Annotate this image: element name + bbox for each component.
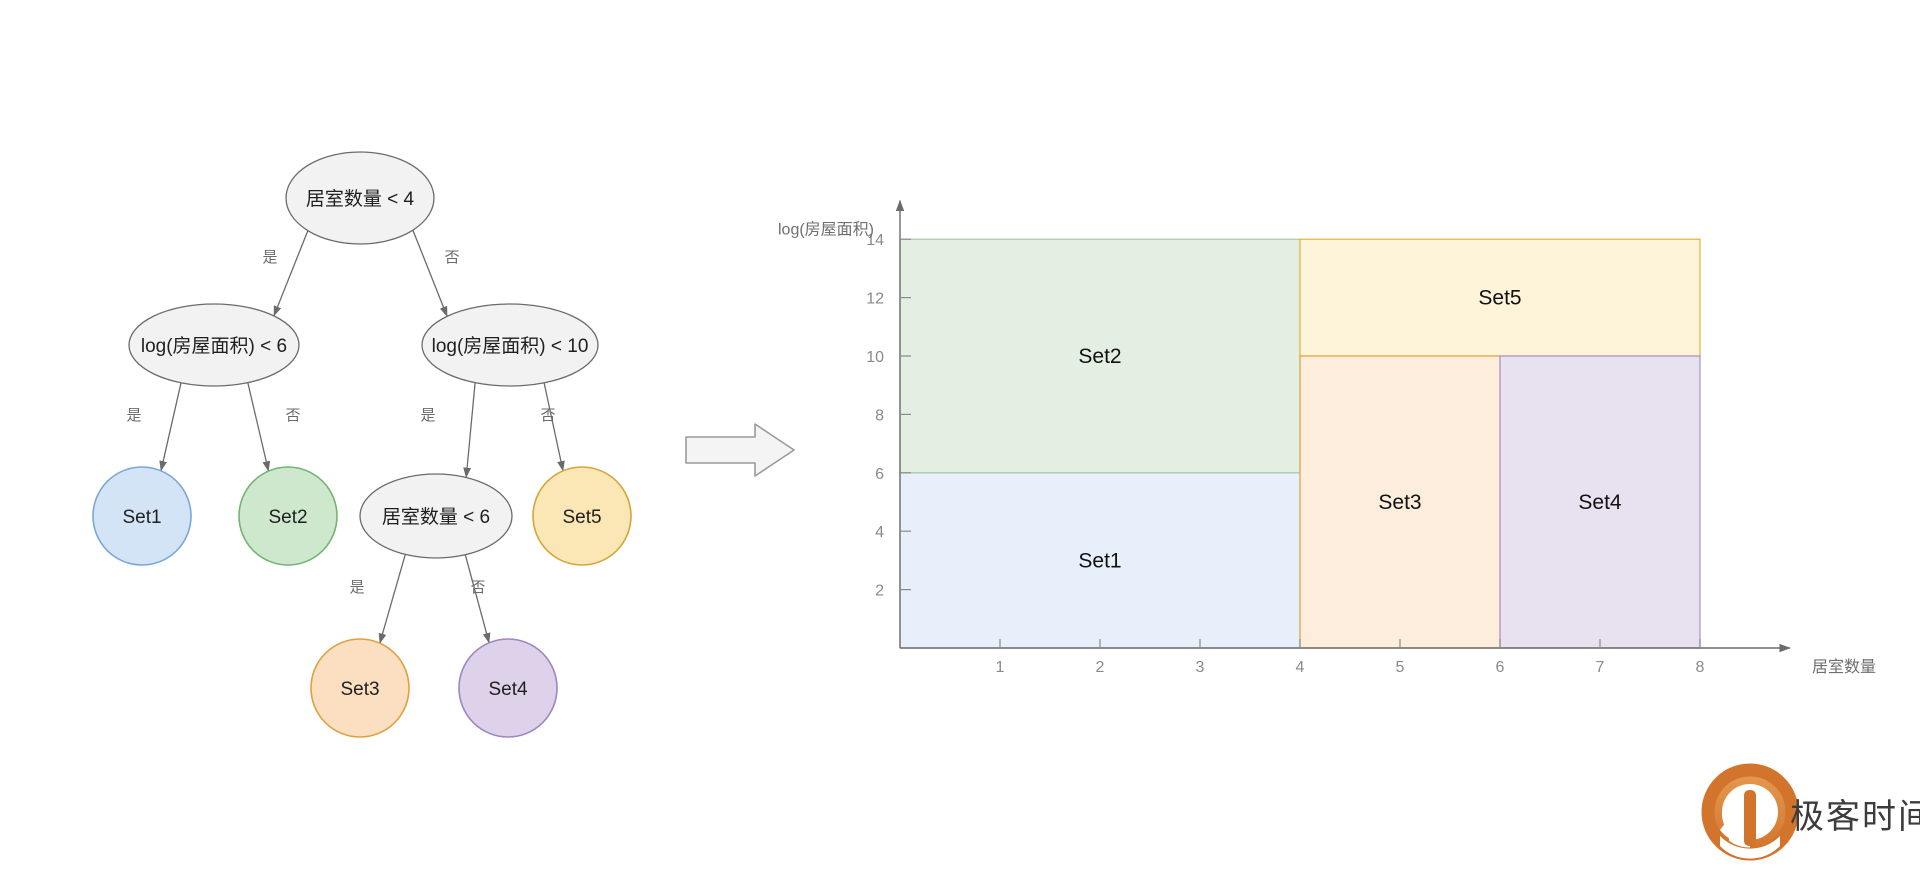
- tree-node-label: Set3: [340, 679, 379, 700]
- x-axis-tick-label: 4: [1296, 659, 1305, 676]
- tree-edge-label: 是: [262, 249, 277, 266]
- x-axis-tick-label: 7: [1596, 659, 1605, 676]
- chart-region-label: Set1: [1078, 549, 1121, 572]
- x-axis-tick-label: 3: [1196, 659, 1205, 676]
- chart-regions: Set1Set2Set5Set3Set4: [900, 239, 1700, 648]
- figure-canvas: 是否是否是否是否 居室数量 < 4log(房屋面积) < 6log(房屋面积) …: [0, 0, 1920, 884]
- chart-region-label: Set4: [1578, 491, 1622, 514]
- tree-edges: 是否是否是否是否: [126, 230, 563, 643]
- tree-nodes: 居室数量 < 4log(房屋面积) < 6log(房屋面积) < 10Set1S…: [93, 152, 631, 737]
- tree-node-label: Set2: [268, 507, 307, 528]
- y-axis-tick-label: 4: [875, 524, 884, 541]
- tree-edge: [161, 383, 181, 471]
- tree-node-n_l2[interactable]: 居室数量 < 6: [360, 474, 512, 558]
- figure-svg: 是否是否是否是否 居室数量 < 4log(房屋面积) < 6log(房屋面积) …: [0, 0, 1920, 884]
- tree-edge: [413, 230, 447, 316]
- tree-edge-label: 是: [126, 407, 141, 424]
- tree-node-label: Set5: [562, 507, 601, 528]
- chart-region-label: Set2: [1078, 345, 1121, 368]
- tree-edge: [380, 554, 406, 643]
- logo-text: 极客时间: [1790, 798, 1920, 836]
- chart-region-label: Set5: [1478, 287, 1521, 310]
- tree-node-set4[interactable]: Set4: [459, 639, 557, 737]
- tree-node-label: 居室数量 < 4: [306, 188, 415, 210]
- x-axis-tick-label: 2: [1096, 659, 1105, 676]
- x-axis-tick-label: 6: [1496, 659, 1505, 676]
- tree-node-set1[interactable]: Set1: [93, 467, 191, 565]
- tree-edge-label: 是: [349, 579, 364, 596]
- tree-node-n_r[interactable]: log(房屋面积) < 10: [422, 304, 598, 386]
- brand-logo: 极客时间: [1708, 770, 1920, 859]
- tree-node-label: 居室数量 < 6: [382, 506, 490, 528]
- tree-node-set5[interactable]: Set5: [533, 467, 631, 565]
- y-axis-tick-label: 12: [866, 291, 884, 308]
- y-axis-tick-label: 8: [875, 407, 884, 424]
- tree-edge-label: 否: [285, 407, 300, 424]
- x-axis-tick-label: 5: [1396, 659, 1405, 676]
- tree-node-root[interactable]: 居室数量 < 4: [286, 152, 434, 244]
- tree-node-label: log(房屋面积) < 6: [141, 335, 287, 357]
- tree-edge: [248, 383, 269, 471]
- tree-edge: [274, 231, 308, 316]
- partition-chart: Set1Set2Set5Set3Set4 123456782468101214 …: [778, 200, 1876, 676]
- tree-node-set3[interactable]: Set3: [311, 639, 409, 737]
- chart-region-label: Set3: [1378, 491, 1421, 514]
- tree-edge-label: 否: [540, 407, 555, 424]
- geektime-logo-icon: [1708, 770, 1792, 859]
- x-axis-title: 居室数量: [1812, 658, 1876, 676]
- y-axis-tick-label: 6: [875, 466, 884, 483]
- tree-edge-label: 否: [444, 249, 459, 266]
- tree-edge-label: 否: [470, 579, 485, 596]
- tree-node-set2[interactable]: Set2: [239, 467, 337, 565]
- tree-node-label: Set1: [122, 507, 161, 528]
- tree-edge: [465, 555, 489, 643]
- x-axis-tick-label: 8: [1696, 659, 1705, 676]
- tree-edge: [466, 383, 475, 478]
- tree-node-label: log(房屋面积) < 10: [432, 335, 589, 357]
- y-axis-tick-label: 10: [866, 349, 884, 366]
- x-axis-tick-label: 1: [996, 659, 1005, 676]
- y-axis-tick-label: 2: [875, 583, 884, 600]
- block-arrow-right-icon: [686, 424, 794, 476]
- tree-node-label: Set4: [488, 679, 528, 700]
- tree-edge-label: 是: [420, 407, 435, 424]
- tree-node-n_l[interactable]: log(房屋面积) < 6: [129, 304, 299, 386]
- y-axis-title: log(房屋面积): [778, 220, 874, 238]
- tree-edge: [544, 383, 563, 471]
